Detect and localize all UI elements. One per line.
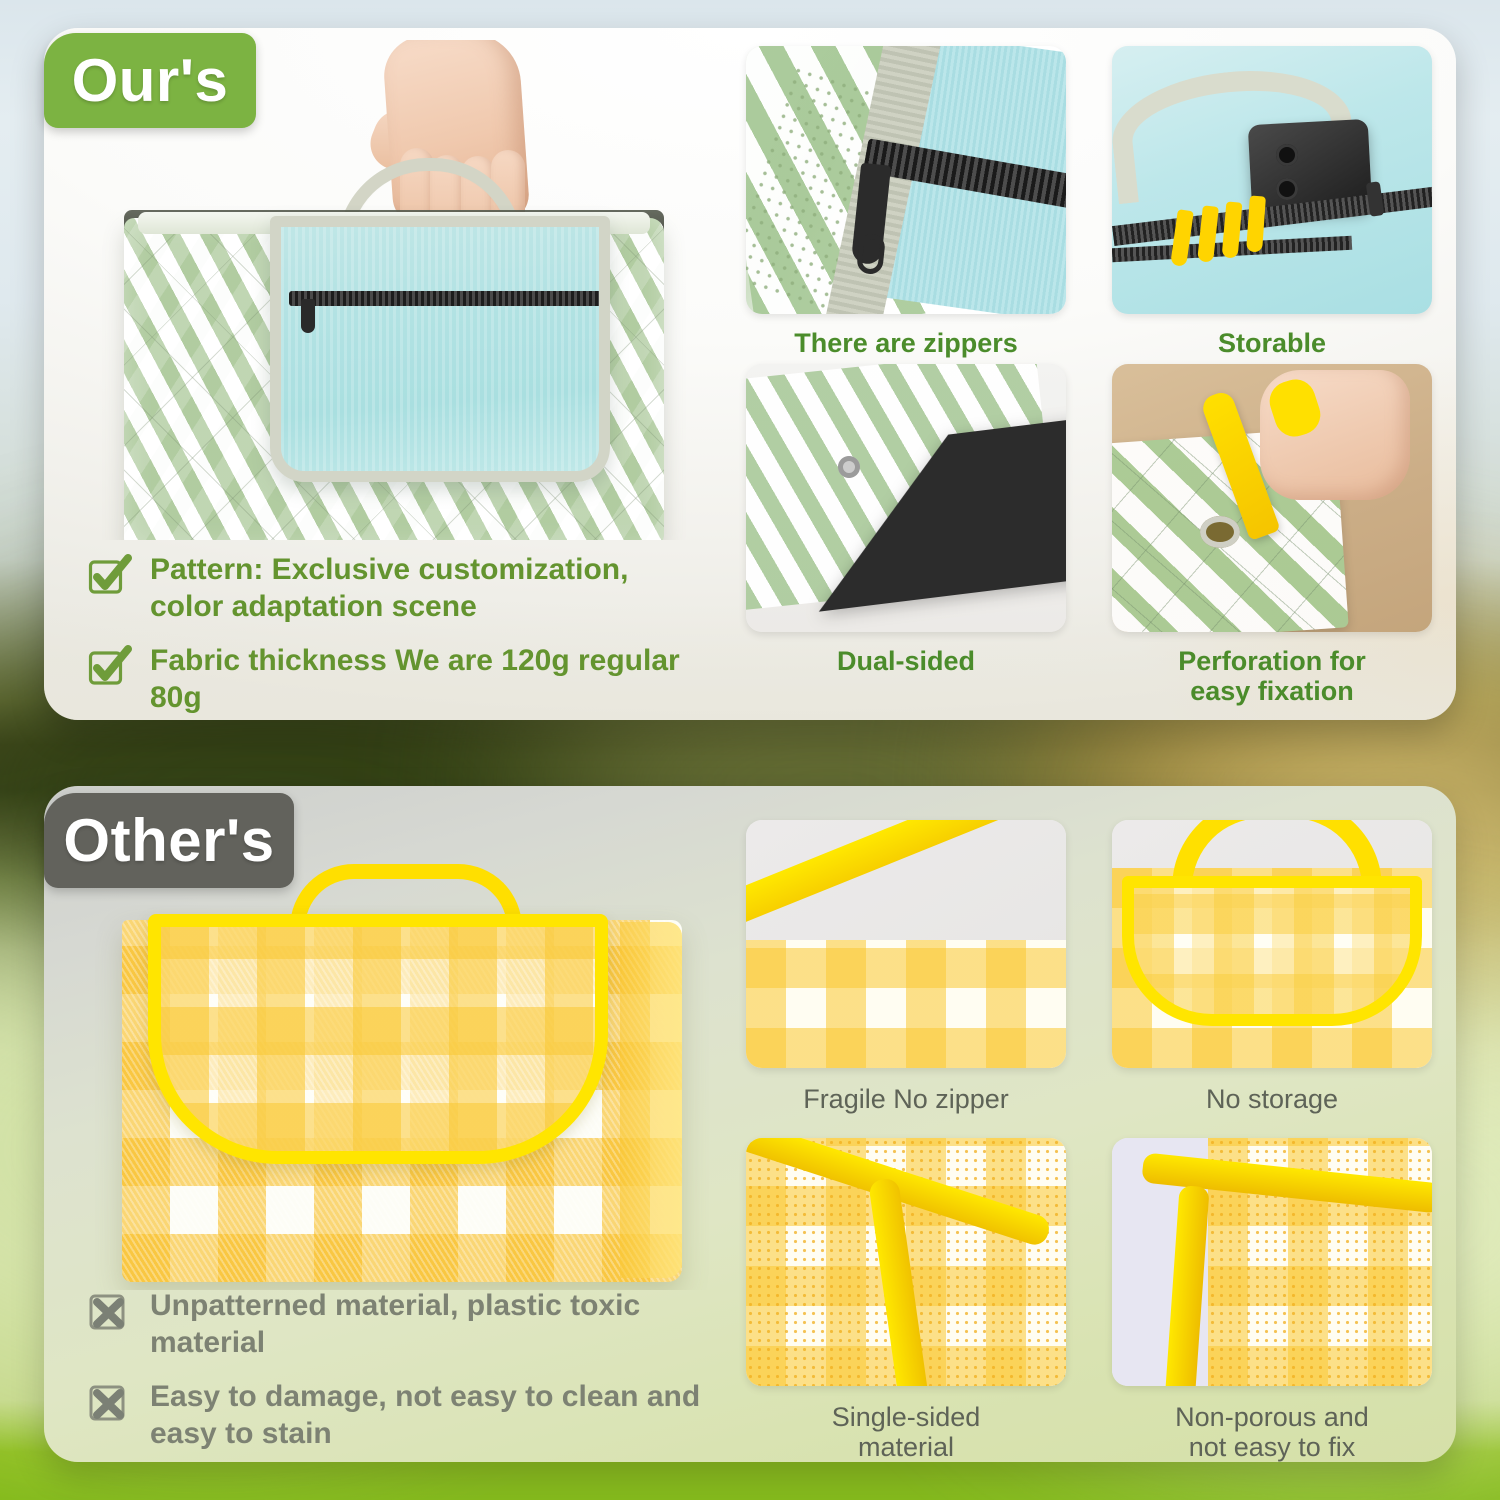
bullet-text: Pattern: Exclusive customization, color … [150,552,708,625]
grommet-icon [1200,516,1240,548]
feature-card-fragile-no-zipper[interactable]: Fragile No zipper [746,820,1066,1114]
feature-card-non-porous[interactable]: Non-porous and not easy to fix [1112,1138,1432,1462]
feature-card-perforation[interactable]: Perforation for easy fixation [1112,364,1432,706]
rolled-edge [620,922,682,1278]
feature-caption: Perforation for easy fixation [1112,646,1432,706]
feature-card-dual-sided[interactable]: Dual-sided [746,364,1066,676]
feature-caption: There are zippers [746,328,1066,358]
bullet-item: Pattern: Exclusive customization, color … [88,552,708,625]
thumbnail-single-sided [746,1138,1066,1386]
thumbnail-dual-sided [746,364,1066,632]
gingham-mat [122,872,682,1282]
feature-caption: No storage [1112,1084,1432,1114]
thumbnail-fragile-strap [746,820,1066,1068]
pocket-fabric-texture [281,227,599,471]
thumbnail-perforation [1112,364,1432,632]
thumbnail-non-porous [1112,1138,1432,1386]
cross-box-icon [88,1381,132,1425]
feature-caption: Fragile No zipper [746,1084,1066,1114]
feature-caption: Single-sided material [746,1402,1066,1462]
bullet-text: Easy to damage, not easy to clean and ea… [150,1379,708,1452]
feature-bullet-list-ours: Pattern: Exclusive customization, color … [88,552,708,734]
thumbnail-zipper-closeup [746,46,1066,314]
cross-box-icon [88,1290,132,1334]
feature-caption: Storable [1112,328,1432,358]
feature-bullet-list-others: Unpatterned material, plastic toxic mate… [88,1288,708,1470]
gingham-flap [1122,876,1422,1026]
bullet-text: Unpatterned material, plastic toxic mate… [150,1288,708,1361]
gingham-flap [148,914,608,1164]
feature-thumbnail-grid-ours: There are zippers Storable Dual-sided [746,46,1436,686]
zipper-track [289,291,610,306]
thumbnail-phone-pocket [1112,46,1432,314]
feature-card-single-sided[interactable]: Single-sided material [746,1138,1066,1462]
gingham-pattern [746,940,1066,1068]
camera-lens-icon [1276,144,1298,166]
feature-thumbnail-grid-others: Fragile No zipper No storage Single-side… [746,820,1436,1438]
hero-image-ours [72,40,732,540]
check-box-icon [88,645,132,689]
feature-caption: Dual-sided [746,646,1066,676]
feature-caption: Non-porous and not easy to fix [1112,1402,1432,1462]
grommet-icon [838,456,860,478]
bullet-item: Easy to damage, not easy to clean and ea… [88,1379,708,1452]
feature-card-zippers[interactable]: There are zippers [746,46,1066,358]
check-box-icon [88,554,132,598]
bullet-text: Fabric thickness We are 120g regular 80g [150,643,708,716]
thumbnail-no-storage [1112,820,1432,1068]
bullet-item: Fabric thickness We are 120g regular 80g [88,643,708,716]
feature-card-storable[interactable]: Storable [1112,46,1432,358]
mint-zip-pocket [270,216,610,482]
zipper-pull-icon [301,299,315,333]
bullet-item: Unpatterned material, plastic toxic mate… [88,1288,708,1361]
camera-lens-icon [1276,178,1298,200]
feature-card-no-storage[interactable]: No storage [1112,820,1432,1114]
hero-image-others [72,820,752,1290]
